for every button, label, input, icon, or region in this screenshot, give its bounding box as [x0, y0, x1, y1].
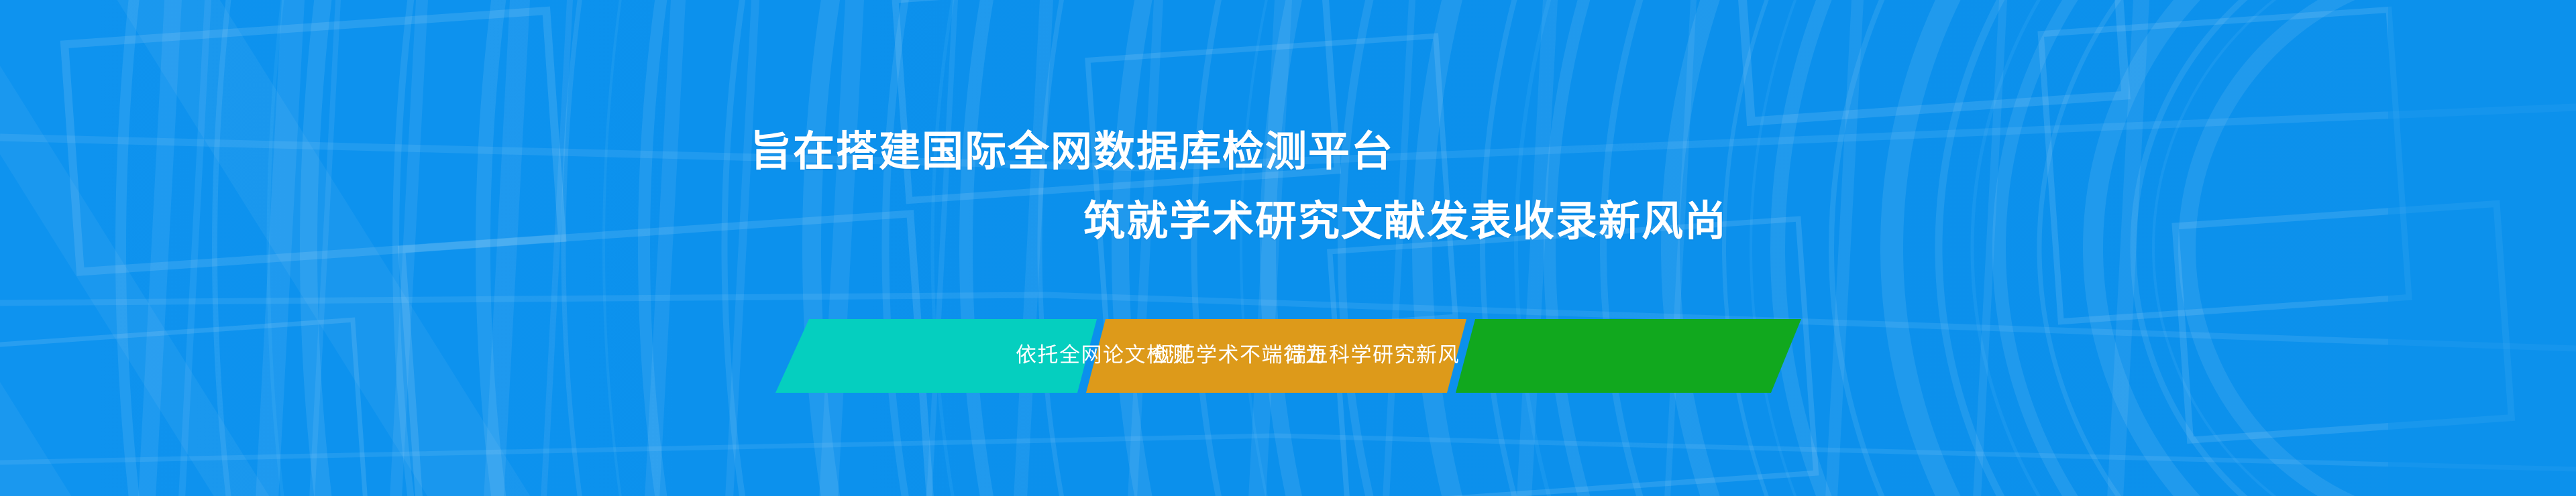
feature-tag-ribbon: 依托全网论文检测 规范学术不端行为 端正科学研究新风 [765, 319, 1811, 393]
headline-block: 旨在搭建国际全网数据库检测平台 筑就学术研究文献发表收录新风尚 [0, 0, 2576, 496]
feature-tag-label-2: 端正科学研究新风 [1285, 345, 1460, 365]
headline-line-1: 旨在搭建国际全网数据库检测平台 [750, 131, 1394, 173]
promo-banner: 旨在搭建国际全网数据库检测平台 筑就学术研究文献发表收录新风尚 依托全网论文检测… [0, 0, 2576, 496]
tag-shape-2[interactable] [1456, 319, 1801, 393]
headline-line-2: 筑就学术研究文献发表收录新风尚 [1083, 201, 1727, 243]
